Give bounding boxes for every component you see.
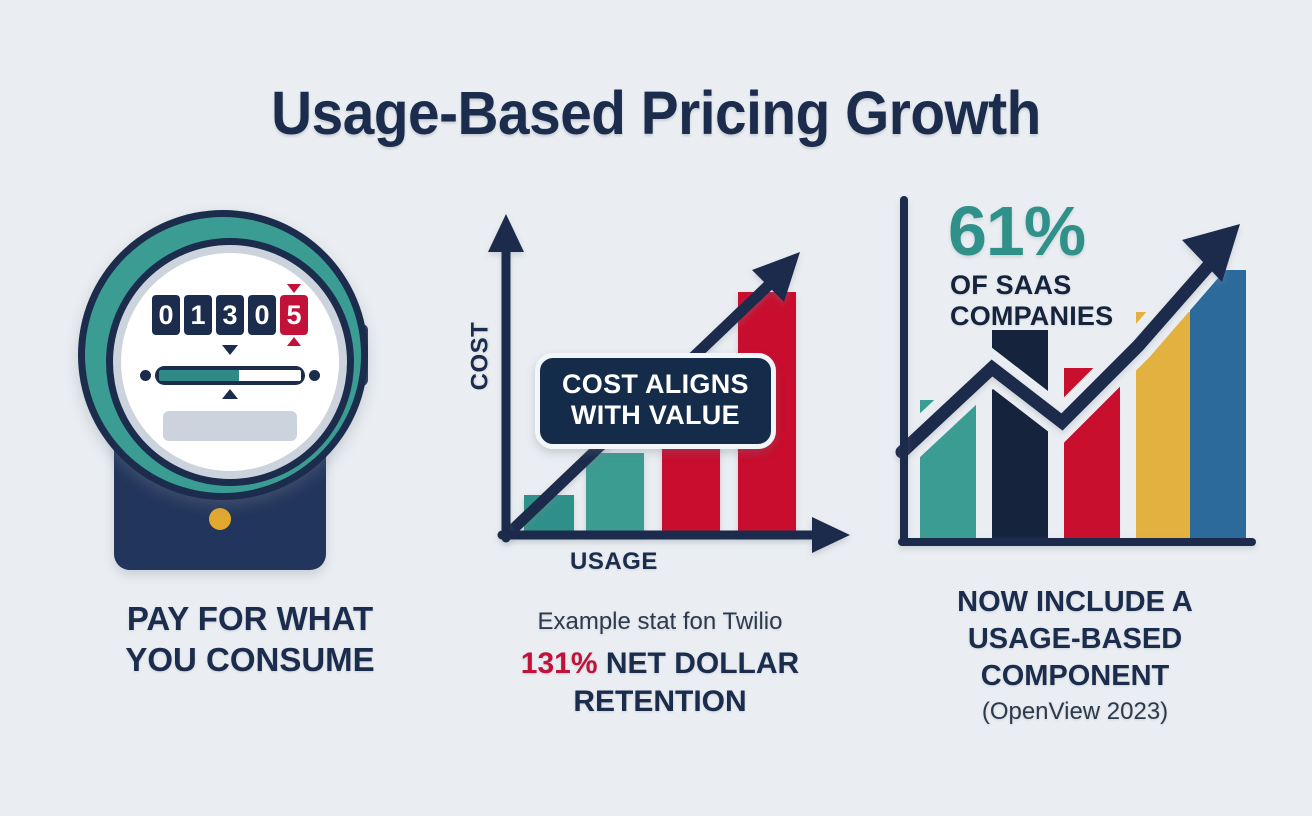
saas-stat-sub-line1: OF SAAS [950, 270, 1113, 301]
right-caption-line1: NOW INCLUDE A [880, 584, 1270, 621]
saas-stat-value: 61% [948, 196, 1085, 266]
infographic-canvas: Usage-Based Pricing Growth 0 1 [0, 0, 1312, 816]
bar-5 [1190, 270, 1246, 540]
right-caption-source: (OpenView 2023) [880, 698, 1270, 726]
saas-stat-sub: OF SAAS COMPANIES [950, 270, 1113, 332]
meter-digit-highlight: 5 [280, 295, 308, 335]
meter-digit-3: 0 [248, 295, 276, 335]
middle-stat-line1: 131% NET DOLLAR [450, 645, 870, 683]
right-caption: NOW INCLUDE A USAGE-BASED COMPONENT [880, 584, 1270, 695]
right-caption-line3: COMPONENT [880, 658, 1270, 695]
bar-2 [586, 453, 644, 535]
meter-dot-left-icon [140, 370, 151, 381]
meter-teal-ring: 0 1 3 0 5 [85, 217, 361, 493]
saas-stat-sub-line2: COMPANIES [950, 301, 1113, 332]
meter-slider-fill [159, 370, 239, 381]
y-axis-arrowhead-icon [488, 214, 524, 252]
meter-knob-icon [209, 508, 231, 530]
left-caption: PAY FOR WHAT YOU CONSUME [60, 598, 440, 681]
meter-gray-ring: 0 1 3 0 5 [113, 245, 347, 479]
utility-meter-icon: 0 1 3 0 5 [60, 190, 440, 590]
meter-marker-up-icon [222, 389, 238, 399]
panel-cost-vs-usage: COST USAGE COST ALIGNS WITH VALUE Exampl… [450, 190, 870, 750]
meter-digit-1: 1 [184, 295, 212, 335]
panel-pay-for-what-you-consume: 0 1 3 0 5 [60, 190, 440, 750]
bar-2 [992, 330, 1048, 540]
x-axis-arrowhead-icon [812, 517, 850, 553]
saas-growth-chart: 61% OF SAAS COMPANIES [880, 190, 1270, 580]
meter-face: 0 1 3 0 5 [121, 253, 339, 471]
meter-digit-0: 0 [152, 295, 180, 335]
meter-slider-empty [239, 370, 301, 381]
middle-stat-value: 131% [521, 647, 598, 680]
meter-digit-2: 3 [216, 295, 244, 335]
left-caption-line2: YOU CONSUME [60, 639, 440, 680]
middle-stat-label2: RETENTION [450, 683, 870, 721]
meter-inner-ring: 0 1 3 0 5 [106, 238, 354, 486]
meter-lcd-panel [163, 411, 297, 441]
middle-caption-source: Example stat fon Twilio [450, 608, 870, 636]
badge-line2: WITH VALUE [562, 400, 749, 431]
meter-slider [140, 365, 320, 385]
meter-slider-track [155, 366, 305, 385]
middle-stat-label1: NET DOLLAR [606, 647, 799, 680]
y-axis-label: COST [466, 322, 494, 391]
meter-dot-right-icon [309, 370, 320, 381]
cost-aligns-badge: COST ALIGNS WITH VALUE [535, 353, 776, 449]
meter-digit-readout: 0 1 3 0 5 [152, 295, 308, 335]
meter-outer-ring: 0 1 3 0 5 [78, 210, 368, 500]
badge-line1: COST ALIGNS [562, 369, 749, 400]
middle-stat-caption: 131% NET DOLLAR RETENTION [450, 645, 870, 722]
cost-vs-usage-chart: COST USAGE COST ALIGNS WITH VALUE [450, 190, 870, 580]
bar-3 [662, 438, 720, 535]
x-axis-label: USAGE [570, 548, 658, 576]
right-caption-line2: USAGE-BASED [880, 621, 1270, 658]
left-caption-line1: PAY FOR WHAT [60, 598, 440, 639]
page-title: Usage-Based Pricing Growth [46, 78, 1266, 148]
meter-marker-down-icon [222, 345, 238, 355]
panel-saas-growth: 61% OF SAAS COMPANIES NOW INCLUDE A USAG… [880, 190, 1270, 750]
